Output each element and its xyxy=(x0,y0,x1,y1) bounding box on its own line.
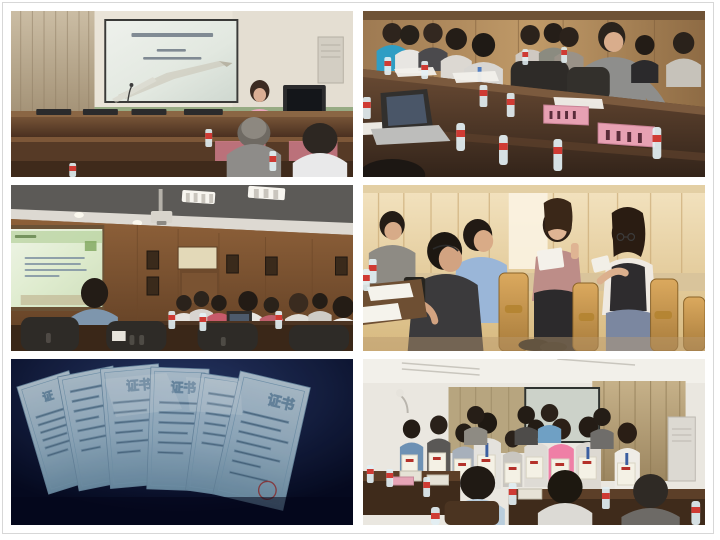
photo-cell-top-right[interactable] xyxy=(363,11,705,177)
photo-seminar-room-projector xyxy=(11,185,353,351)
collage-frame: 证 xyxy=(2,2,714,534)
photo-cell-middle-right[interactable] xyxy=(363,185,705,351)
photo-award-group-photo xyxy=(363,359,705,525)
photo-cell-bottom-right[interactable] xyxy=(363,359,705,525)
photo-conference-table-discussion xyxy=(363,11,705,177)
photo-certificates-fanned: 证 xyxy=(11,359,353,525)
photo-small-group-discussion xyxy=(363,185,705,351)
photo-cell-bottom-left[interactable]: 证 xyxy=(11,359,353,525)
nameplate-xia-hongwen xyxy=(598,123,654,147)
photo-cell-top-left[interactable] xyxy=(11,11,353,177)
photo-lecture-hall-presentation xyxy=(11,11,353,177)
photo-cell-middle-left[interactable] xyxy=(11,185,353,351)
photo-grid: 证 xyxy=(11,11,705,525)
nameplate-li-runzhou xyxy=(544,105,589,125)
